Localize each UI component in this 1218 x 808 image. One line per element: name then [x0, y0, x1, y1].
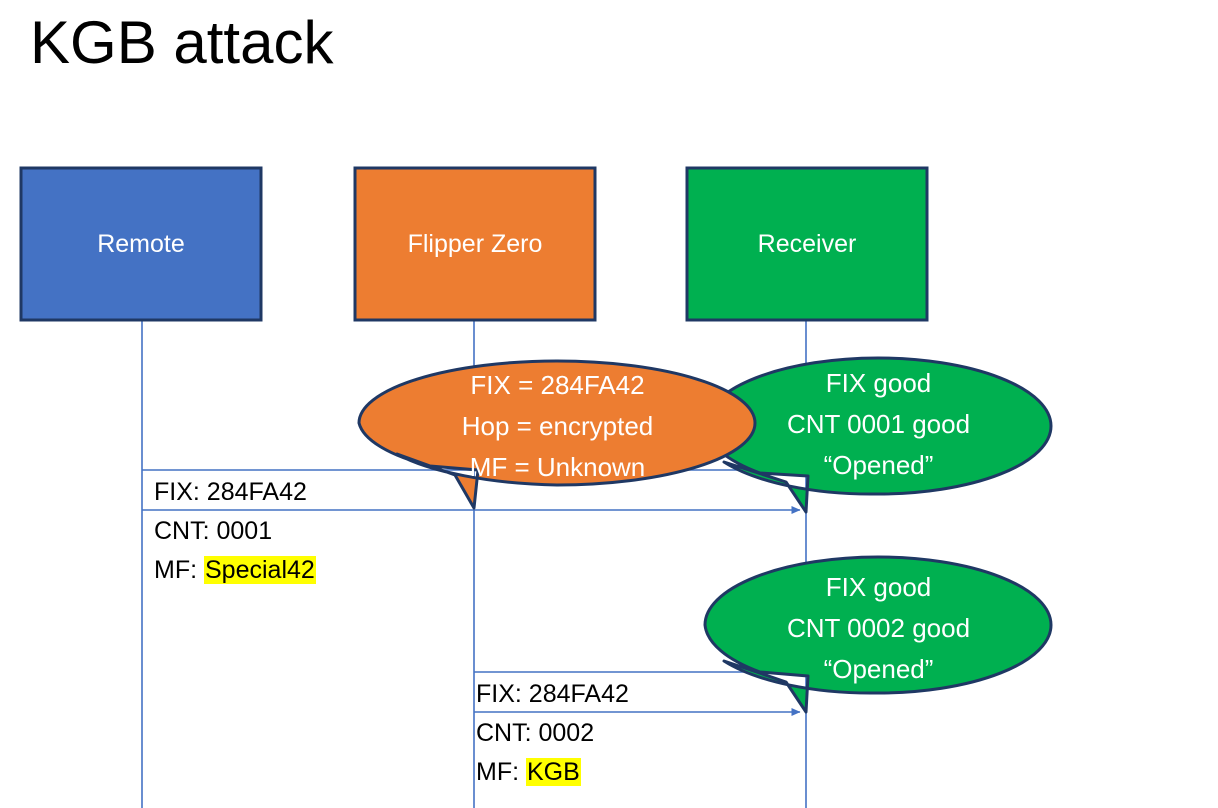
- message-line: CNT: 0001: [154, 512, 316, 551]
- message-line-label: FIX:: [154, 478, 207, 506]
- message-line: FIX: 284FA42: [154, 473, 316, 512]
- message-line-value: 0002: [539, 719, 595, 747]
- bubble-line: “Opened”: [705, 445, 1052, 486]
- bubble-line: FIX good: [705, 363, 1052, 404]
- message-line-value-highlighted: KGB: [526, 758, 581, 786]
- message-label-2: FIX: 284FA42 CNT: 0002 MF: KGB: [476, 675, 629, 792]
- bubble-line: CNT 0001 good: [705, 404, 1052, 445]
- message-line-value: 0001: [217, 517, 273, 545]
- bubble-text-receiver-response-1: FIX good CNT 0001 good “Opened”: [705, 363, 1052, 486]
- slide-canvas: KGB attack: [0, 0, 1218, 808]
- message-line-label: CNT:: [154, 517, 217, 545]
- actor-label-receiver: Receiver: [687, 230, 927, 259]
- message-line-label: CNT:: [476, 719, 539, 747]
- bubble-line: FIX = 284FA42: [360, 365, 755, 406]
- message-line-label: FIX:: [476, 680, 529, 708]
- message-line-value: 284FA42: [529, 680, 629, 708]
- message-label-1: FIX: 284FA42 CNT: 0001 MF: Special42: [154, 473, 316, 590]
- actor-label-remote: Remote: [21, 230, 261, 259]
- bubble-line: CNT 0002 good: [705, 608, 1052, 649]
- bubble-line: FIX good: [705, 567, 1052, 608]
- message-line-label: MF:: [154, 556, 204, 584]
- message-line: MF: KGB: [476, 753, 629, 792]
- message-line: MF: Special42: [154, 551, 316, 590]
- bubble-line: MF = Unknown: [360, 447, 755, 488]
- bubble-line: “Opened”: [705, 649, 1052, 690]
- message-line-label: MF:: [476, 758, 526, 786]
- actor-label-flipper: Flipper Zero: [355, 230, 595, 259]
- message-line: FIX: 284FA42: [476, 675, 629, 714]
- message-line-value: 284FA42: [207, 478, 307, 506]
- message-line-value-highlighted: Special42: [204, 556, 316, 584]
- bubble-text-receiver-response-2: FIX good CNT 0002 good “Opened”: [705, 567, 1052, 690]
- bubble-line: Hop = encrypted: [360, 406, 755, 447]
- message-line: CNT: 0002: [476, 714, 629, 753]
- bubble-text-flipper-capture: FIX = 284FA42 Hop = encrypted MF = Unkno…: [360, 365, 755, 488]
